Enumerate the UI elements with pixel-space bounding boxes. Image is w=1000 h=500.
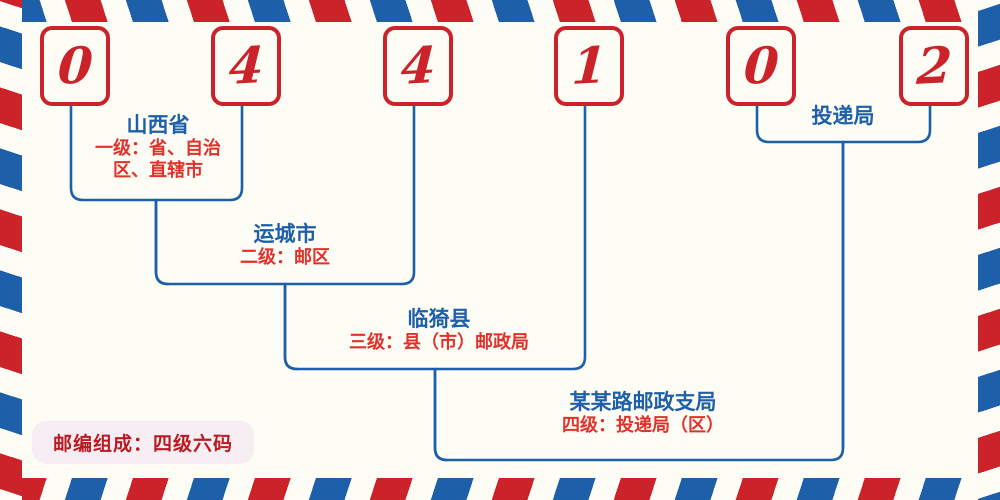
level-3-name: 临猗县 bbox=[294, 307, 584, 332]
digit-glyph: 4 bbox=[227, 40, 265, 92]
airmail-border-top bbox=[0, 0, 1000, 22]
postcode-digit-6[interactable]: 2 bbox=[899, 26, 969, 106]
postcode-digit-4[interactable]: 1 bbox=[554, 26, 624, 106]
level-2-desc: 二级：邮区 bbox=[165, 247, 405, 270]
airmail-stripes bbox=[978, 0, 1000, 500]
airmail-stripes bbox=[0, 478, 1000, 500]
level-3-label: 临猗县 三级：县（市）邮政局 bbox=[294, 307, 584, 354]
level-1-desc: 一级：省、自治区、直辖市 bbox=[79, 138, 237, 183]
delivery-office-label: 投递局 bbox=[743, 104, 943, 129]
digit-glyph: 2 bbox=[915, 40, 953, 92]
digit-glyph: 4 bbox=[399, 40, 437, 92]
postcode-structure-diagram: 0 4 4 1 0 2 投递局 山西省 一级：省、自治区、直辖市 运城市 二级：… bbox=[0, 0, 1000, 500]
airmail-border-right bbox=[978, 0, 1000, 500]
airmail-border-left bbox=[0, 0, 22, 500]
postcode-digit-5[interactable]: 0 bbox=[726, 26, 796, 106]
badge-label: 邮编组成：四级六码 bbox=[53, 429, 233, 456]
postcode-digit-1[interactable]: 0 bbox=[40, 26, 110, 106]
level-1-name: 山西省 bbox=[76, 113, 240, 138]
airmail-border-bottom bbox=[0, 478, 1000, 500]
digit-glyph: 0 bbox=[742, 40, 780, 92]
postcode-digit-3[interactable]: 4 bbox=[383, 26, 453, 106]
level-2-name: 运城市 bbox=[165, 222, 405, 247]
level-4-desc: 四级：投递局（区） bbox=[444, 415, 842, 438]
airmail-stripes bbox=[0, 0, 22, 500]
level-4-label: 某某路邮政支局 四级：投递局（区） bbox=[444, 390, 842, 437]
digit-glyph: 0 bbox=[56, 40, 94, 92]
postcode-composition-badge: 邮编组成：四级六码 bbox=[32, 421, 254, 464]
delivery-office-name: 投递局 bbox=[743, 104, 943, 129]
postcode-digit-2[interactable]: 4 bbox=[211, 26, 281, 106]
digit-glyph: 1 bbox=[570, 40, 608, 92]
level-1-label: 山西省 一级：省、自治区、直辖市 bbox=[76, 113, 240, 183]
level-3-desc: 三级：县（市）邮政局 bbox=[294, 332, 584, 355]
level-4-name: 某某路邮政支局 bbox=[444, 390, 842, 415]
level-2-label: 运城市 二级：邮区 bbox=[165, 222, 405, 269]
airmail-stripes bbox=[0, 0, 1000, 22]
